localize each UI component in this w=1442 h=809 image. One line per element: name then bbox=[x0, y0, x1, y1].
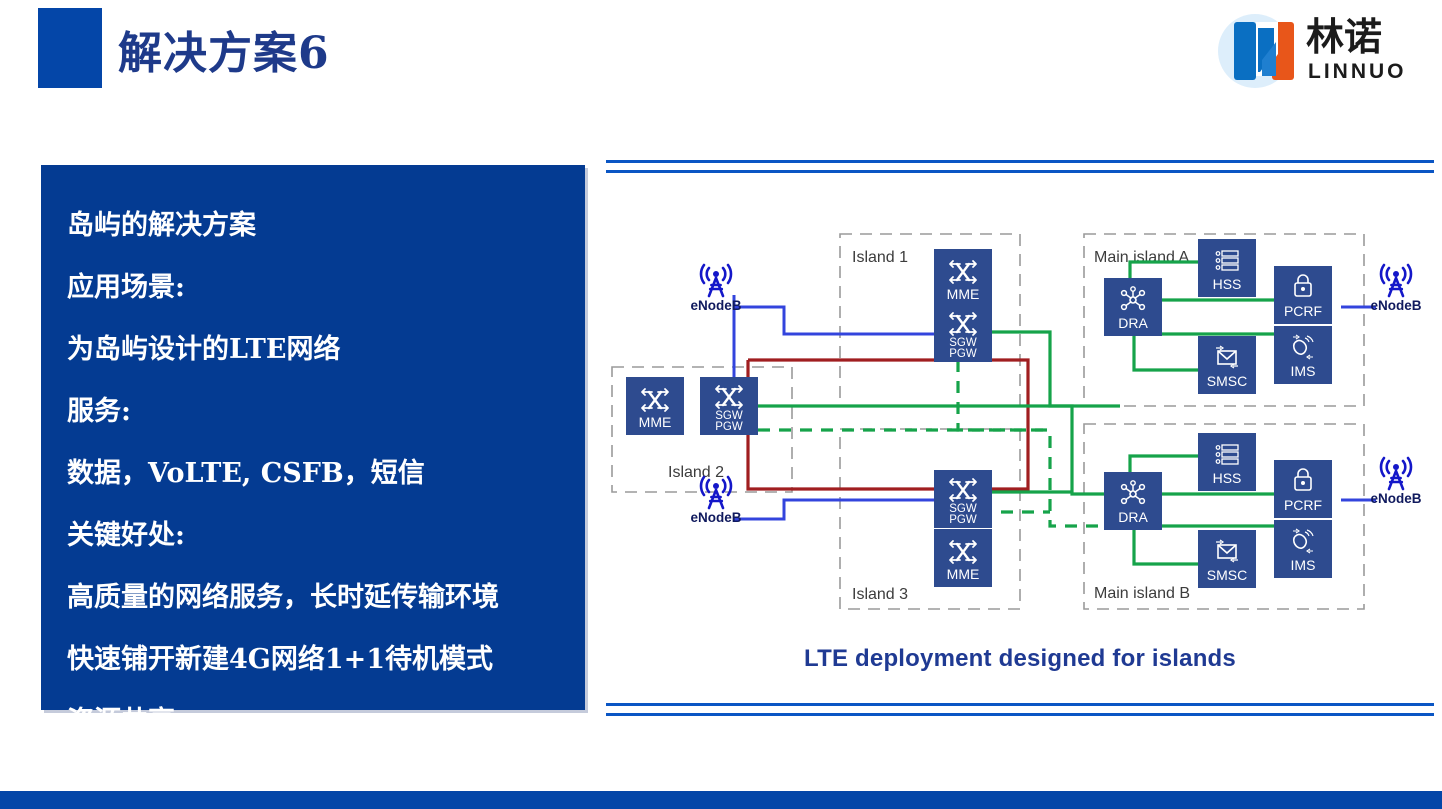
node-label: IMS bbox=[1291, 557, 1316, 573]
node-label: DRA bbox=[1118, 509, 1148, 525]
node-mme-island2[interactable]: MME bbox=[626, 377, 684, 435]
node-dra-b[interactable]: DRA bbox=[1104, 472, 1162, 530]
link-green-draB-hss bbox=[1130, 456, 1198, 474]
node-pcrf-b[interactable]: PCRF bbox=[1274, 460, 1332, 518]
node-ims-b[interactable]: IMS bbox=[1274, 520, 1332, 578]
node-dra-a[interactable]: DRA bbox=[1104, 278, 1162, 336]
link-green-i2-to-draB bbox=[758, 406, 1106, 494]
group-island-1: Island 1 bbox=[840, 234, 1020, 406]
link-green-draA-smsc bbox=[1134, 334, 1198, 370]
logo-chinese-name: 林诺 bbox=[1306, 16, 1382, 58]
node-label: PCRF bbox=[1284, 303, 1322, 319]
node-hss-a[interactable]: HSS bbox=[1198, 239, 1256, 297]
node-label-line2: PGW bbox=[949, 514, 977, 526]
link-blue-enb1 bbox=[734, 307, 934, 334]
solution-info-panel: 岛屿的解决方案 应用场景: 为岛屿设计的LTE网络 服务: 数据，VoLTE, … bbox=[41, 165, 585, 710]
node-sgw-pgw-island3[interactable]: SGW PGW bbox=[934, 470, 992, 528]
link-blue-enb2 bbox=[734, 500, 934, 519]
group-label-main-island-b: Main island B bbox=[1094, 585, 1190, 602]
node-enodeb-4[interactable]: eNodeB bbox=[1370, 458, 1421, 506]
node-smsc-b[interactable]: SMSC bbox=[1198, 530, 1256, 588]
node-label: MME bbox=[639, 414, 672, 430]
diagram-bottom-rule bbox=[606, 703, 1434, 716]
solution-info-list: 岛屿的解决方案 应用场景: 为岛屿设计的LTE网络 服务: 数据，VoLTE, … bbox=[41, 165, 585, 753]
node-label: SMSC bbox=[1207, 567, 1247, 583]
node-label: eNodeB bbox=[1370, 491, 1421, 506]
node-sgw-pgw-island2[interactable]: SGW PGW bbox=[700, 377, 758, 435]
node-sgw-pgw-island1[interactable]: SGW PGW bbox=[934, 304, 992, 362]
node-label-line2: PGW bbox=[715, 421, 743, 433]
logo-english-name: LINNUO bbox=[1308, 60, 1407, 84]
group-label-island-1: Island 1 bbox=[852, 249, 908, 266]
node-ims-a[interactable]: IMS bbox=[1274, 326, 1332, 384]
node-enodeb-3[interactable]: eNodeB bbox=[1370, 265, 1421, 313]
info-line: 岛屿的解决方案 bbox=[67, 195, 585, 257]
page-title: 解决方案6 bbox=[118, 17, 330, 81]
lte-diagram-panel: Island 1 Island 2 Island 3 Main island A… bbox=[606, 160, 1434, 710]
info-line: 数据，VoLTE, CSFB，短信 bbox=[67, 443, 585, 505]
info-line: 关键好处: bbox=[67, 505, 585, 567]
lte-network-diagram: Island 1 Island 2 Island 3 Main island A… bbox=[606, 174, 1434, 644]
node-smsc-a[interactable]: SMSC bbox=[1198, 336, 1256, 394]
node-label: PCRF bbox=[1284, 497, 1322, 513]
node-pcrf-a[interactable]: PCRF bbox=[1274, 266, 1332, 324]
info-line: 高质量的网络服务，长时延传输环境 bbox=[67, 567, 585, 629]
node-label: MME bbox=[947, 286, 980, 302]
title-accent-block bbox=[38, 8, 102, 88]
group-label-island-3: Island 3 bbox=[852, 586, 908, 603]
node-hss-b[interactable]: HSS bbox=[1198, 433, 1256, 491]
diagram-top-rule bbox=[606, 160, 1434, 173]
group-island-3: Island 3 bbox=[840, 429, 1020, 609]
company-logo: 林诺 LINNUO bbox=[1218, 10, 1430, 90]
link-green-i1-to-draA bbox=[980, 332, 1120, 406]
node-label: HSS bbox=[1213, 276, 1242, 292]
node-label: HSS bbox=[1213, 470, 1242, 486]
node-label: DRA bbox=[1118, 315, 1148, 331]
diagram-caption: LTE deployment designed for islands bbox=[606, 645, 1434, 673]
node-label: IMS bbox=[1291, 363, 1316, 379]
node-label: SMSC bbox=[1207, 373, 1247, 389]
info-line: 服务: bbox=[67, 381, 585, 443]
info-line: 为岛屿设计的LTE网络 bbox=[67, 319, 585, 381]
logo-mark-icon bbox=[1232, 20, 1296, 82]
link-red-ring bbox=[748, 360, 1028, 489]
info-line: 快速铺开新建4G网络1+1待机模式 bbox=[67, 629, 585, 691]
node-label: MME bbox=[947, 566, 980, 582]
node-label: eNodeB bbox=[1370, 298, 1421, 313]
info-line: 资源共享 bbox=[67, 691, 585, 753]
node-enodeb-2[interactable]: eNodeB bbox=[690, 477, 741, 525]
node-label-line2: PGW bbox=[949, 348, 977, 360]
info-line: 应用场景: bbox=[67, 257, 585, 319]
node-mme-island1[interactable]: MME bbox=[934, 249, 992, 307]
node-label: eNodeB bbox=[690, 298, 741, 313]
footer-bar bbox=[0, 791, 1442, 809]
node-enodeb-1[interactable]: eNodeB bbox=[690, 265, 741, 313]
group-label-island-2: Island 2 bbox=[668, 464, 724, 481]
link-green-draB-smsc bbox=[1134, 526, 1198, 564]
node-label: eNodeB bbox=[690, 510, 741, 525]
node-mme-island3[interactable]: MME bbox=[934, 529, 992, 587]
